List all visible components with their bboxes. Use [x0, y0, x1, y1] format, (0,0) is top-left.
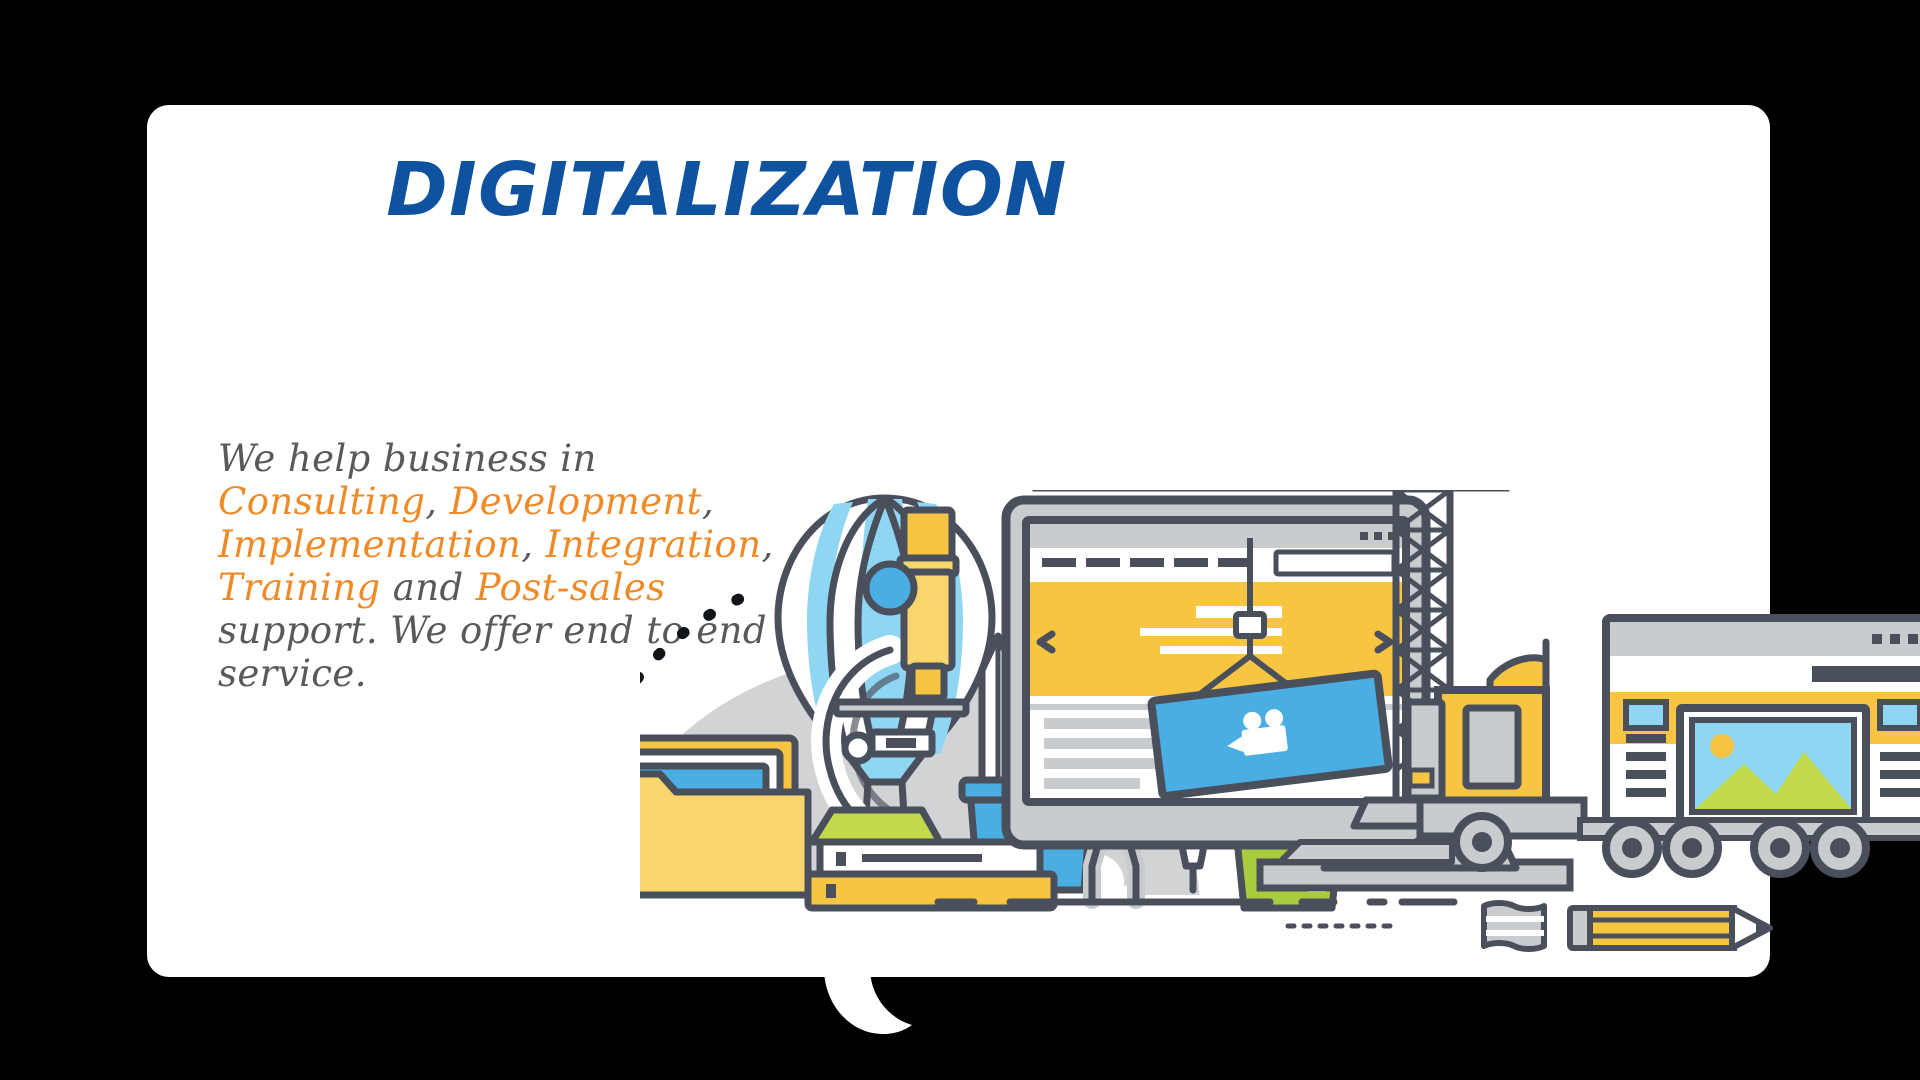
folder	[640, 738, 808, 895]
highlight-post-sales: Post-sales	[476, 566, 666, 609]
eraser	[1484, 903, 1544, 949]
highlight-consulting: Consulting	[218, 480, 425, 523]
slide-root: DIGITALIZATION We help business in Consu…	[0, 0, 1920, 1080]
crescent-moon	[824, 902, 912, 1034]
highlight-training: Training	[218, 566, 381, 609]
highlight-implementation: Implementation	[218, 523, 521, 566]
browser-dots	[1360, 532, 1396, 540]
body-segment-6: and	[381, 566, 476, 609]
trailer-browser-dots	[1872, 634, 1918, 644]
page-title: DIGITALIZATION	[147, 150, 1307, 231]
body-segment-4: ,	[521, 523, 545, 566]
pencil	[1570, 908, 1770, 948]
nav-dashes	[1042, 558, 1252, 567]
books-stack	[808, 842, 1054, 908]
digitalization-illustration	[640, 490, 1920, 1080]
body-segment-2: ,	[425, 480, 449, 523]
body-segment-1: We help business in	[218, 437, 597, 480]
